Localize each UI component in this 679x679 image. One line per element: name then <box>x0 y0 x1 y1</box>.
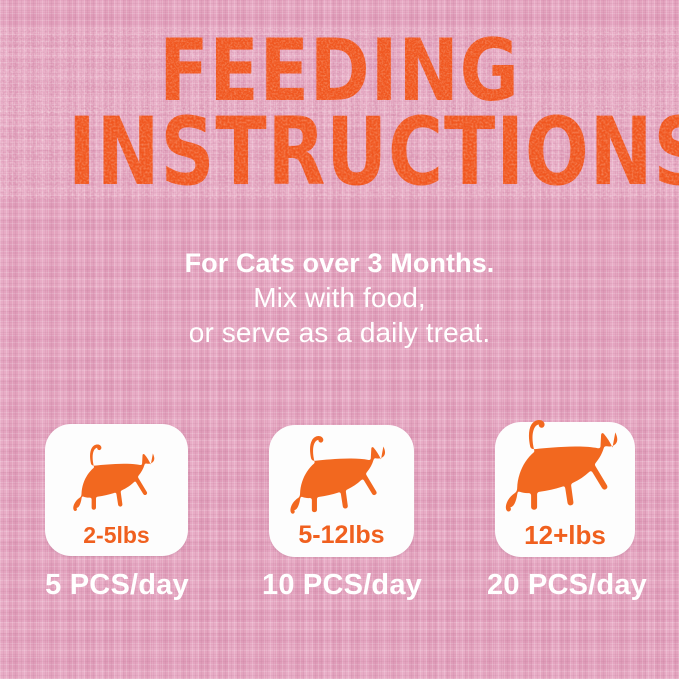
page-title-line-2: INSTRUCTIONS <box>68 106 611 200</box>
subtitle-line-3: or serve as a daily treat. <box>0 315 679 350</box>
weight-label: 12+lbs <box>495 520 635 551</box>
dose-label: 10 PCS/day <box>247 569 437 602</box>
dose-label: 20 PCS/day <box>472 569 662 602</box>
subtitle-block: For Cats over 3 Months. Mix with food, o… <box>0 246 679 350</box>
weight-label: 5-12lbs <box>269 521 414 550</box>
dose-label: 5 PCS/day <box>22 569 212 602</box>
feeding-instructions-poster: FEEDING INSTRUCTIONS For Cats over 3 Mon… <box>0 0 679 679</box>
dosage-card-row: 2-5lbs 5 PCS/day 5-12lbs 10 PCS/day <box>0 414 679 624</box>
subtitle-line-1: For Cats over 3 Months. <box>0 246 679 280</box>
subtitle-line-2: Mix with food, <box>0 280 679 315</box>
weight-label: 2-5lbs <box>45 522 188 549</box>
